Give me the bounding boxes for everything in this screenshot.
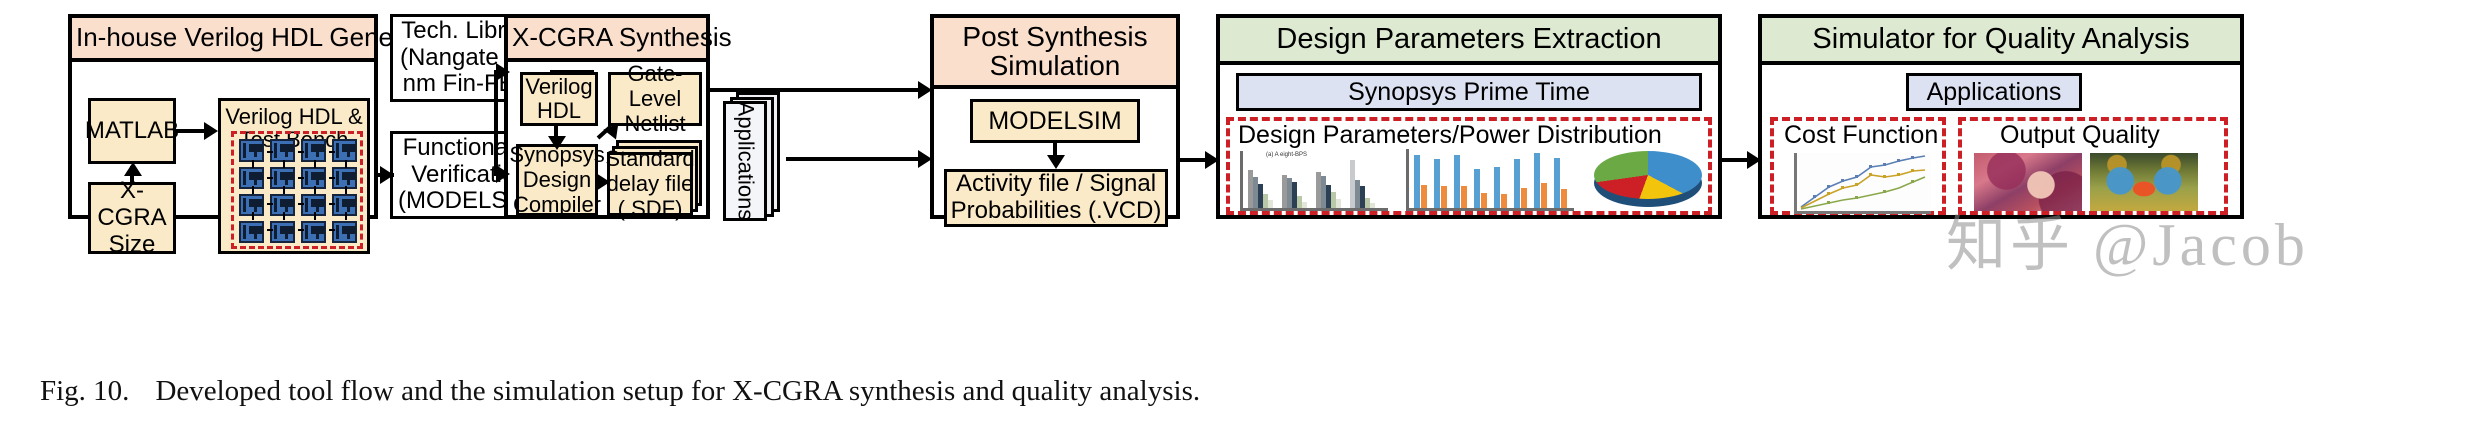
cgra-pe-tile [301, 221, 326, 243]
box-modelsim-label: MODELSIM [988, 107, 1121, 135]
arrow-verilog-to-compiler-head [548, 136, 566, 150]
arrow-matlab-to-testbench-line [176, 129, 206, 133]
connector-synthesis-left-rail [494, 70, 498, 174]
chart-bar [1414, 155, 1420, 208]
cgra-interconnect-h [267, 177, 273, 179]
chart-two-series-bar [1406, 149, 1574, 211]
cgra-interconnect-v [252, 186, 254, 194]
panel-title-hdl-generator: In-house Verilog HDL Generator [72, 18, 374, 62]
cgra-pe-tile [332, 139, 357, 161]
chart-bar [1474, 169, 1480, 208]
cgra-interconnect-v [283, 160, 285, 168]
chart-bar [1336, 199, 1341, 208]
panel-simulator-quality-analysis: Simulator for Quality Analysis Applicati… [1758, 14, 2244, 219]
cgra-interconnect-h [298, 229, 304, 231]
panel-design-parameters-extraction: Design Parameters Extraction Synopsys Pr… [1216, 14, 1722, 219]
cgra-interconnect-h [329, 229, 335, 231]
panel-hdl-generator: In-house Verilog HDL Generator MATLAB X-… [68, 14, 378, 219]
cgra-interconnect-h [267, 229, 273, 231]
chart-bar [1441, 186, 1447, 208]
cgra-interconnect-v [314, 186, 316, 194]
chart-grouped-bar-xaxis [1240, 208, 1388, 211]
arrow-matlab-to-testbench-head [204, 122, 218, 140]
dashed-design-parameters-power-label: Design Parameters/Power Distribution [1238, 121, 1662, 150]
box-matlab[interactable]: MATLAB [88, 98, 176, 164]
panel-xcgra-synthesis: X-CGRA Synthesis Verilog HDL Gate-Level … [504, 14, 710, 219]
box-verilog-hdl[interactable]: Verilog HDL [520, 72, 598, 126]
connector-techlib-to-synthesis-line [550, 70, 594, 74]
cgra-tile-array [239, 139, 357, 243]
panel-title-xcgra-synthesis: X-CGRA Synthesis [508, 18, 706, 62]
box-gate-level-netlist[interactable]: Gate-Level Netlist [608, 72, 702, 126]
chart-cost-function-line [1794, 153, 1931, 214]
box-activity-file-label: Activity file / Signal Probabilities (.V… [951, 171, 1162, 225]
arrow-size-to-matlab-head [124, 162, 142, 176]
chart-bar [1534, 153, 1540, 208]
box-applications-label: Applications [1927, 78, 2062, 106]
chart-bar [1541, 183, 1547, 208]
chart-bar [1268, 200, 1273, 208]
box-verilog-testbench[interactable]: Verilog HDL & Test Bench [218, 98, 370, 254]
chart-bar [1370, 203, 1375, 208]
connector-applications-to-postsynth-line [786, 157, 926, 161]
chart-bar [1554, 158, 1560, 208]
cgra-interconnect-v [252, 212, 254, 220]
chart-grouped-bar-title: (a) A eight-BPS [1266, 152, 1307, 158]
cgra-interconnect-h [329, 151, 335, 153]
cgra-interconnect-v [314, 160, 316, 168]
cgra-pe-tile [239, 139, 264, 161]
box-modelsim[interactable]: MODELSIM [970, 99, 1140, 143]
chart-bar [1454, 155, 1460, 208]
cgra-interconnect-v [283, 186, 285, 194]
cgra-pe-tile [270, 221, 295, 243]
cgra-interconnect-h [329, 203, 335, 205]
dashed-output-quality-label: Output Quality [2000, 121, 2160, 150]
box-standard-delay-file[interactable]: Standard delay file (.SDF) [607, 152, 693, 216]
panel-body-design-parameters-extraction: Synopsys Prime Time Design Parameters/Po… [1220, 65, 1718, 222]
cgra-interconnect-v [314, 212, 316, 220]
chart-grouped-bar-yaxis [1240, 151, 1243, 211]
output-quality-image-lena [1974, 153, 2082, 211]
cgra-interconnect-h [298, 177, 304, 179]
figure-canvas: In-house Verilog HDL Generator MATLAB X-… [0, 0, 2477, 430]
box-gate-level-netlist-label: Gate-Level Netlist [613, 62, 697, 136]
cgra-pe-tile [301, 139, 326, 161]
panel-body-hdl-generator: MATLAB X-CGRA Size Verilog HDL & Test Be… [72, 62, 374, 219]
cgra-interconnect-h [298, 203, 304, 205]
box-xcgra-size-label: X-CGRA Size [93, 178, 171, 259]
cgra-interconnect-h [267, 203, 273, 205]
chart-bar [1461, 186, 1467, 208]
chart-bar [1561, 189, 1567, 208]
chart-two-series-yaxis [1406, 149, 1409, 211]
box-verilog-hdl-label: Verilog HDL [525, 75, 592, 124]
connector-rail-to-synthesis-bottom-head [496, 165, 510, 183]
output-quality-image-baboon [2090, 153, 2198, 211]
chart-bar [1501, 194, 1507, 208]
connector-synthesis-to-postsynth-line [710, 88, 926, 92]
panel-title-post-synthesis-simulation: Post Synthesis Simulation [934, 18, 1176, 89]
figure-caption: Fig. 10.Developed tool flow and the simu… [40, 375, 1200, 408]
applications-stack-label: Applications [732, 102, 758, 221]
cgra-interconnect-h [298, 151, 304, 153]
panel-body-simulator-quality-analysis: Applications Cost Function [1762, 65, 2240, 222]
panel-body-post-synthesis-simulation: MODELSIM Activity file / Signal Probabil… [934, 89, 1176, 209]
chart-bar [1494, 167, 1500, 208]
panel-post-synthesis-simulation: Post Synthesis Simulation MODELSIM Activ… [930, 14, 1180, 219]
cgra-interconnect-h [329, 177, 335, 179]
connector-hdlgen-to-verify-head [380, 166, 394, 184]
panel-body-xcgra-synthesis: Verilog HDL Gate-Level Netlist Synopsys … [508, 62, 706, 219]
cgra-interconnect-v [252, 160, 254, 168]
cgra-interconnect-h [267, 151, 273, 153]
box-synopsys-design-compiler[interactable]: Synopsys Design Compiler [516, 144, 598, 216]
box-matlab-label: MATLAB [85, 118, 179, 145]
panel-title-simulator-quality-analysis: Simulator for Quality Analysis [1762, 18, 2240, 65]
arrow-compiler-to-sdf-head [596, 173, 610, 191]
chart-power-distribution-pie [1590, 147, 1706, 211]
box-activity-file[interactable]: Activity file / Signal Probabilities (.V… [944, 169, 1168, 227]
box-synopsys-prime-time-label: Synopsys Prime Time [1348, 78, 1590, 106]
panel-title-design-parameters-extraction: Design Parameters Extraction [1220, 18, 1718, 65]
cgra-pe-tile [332, 221, 357, 243]
box-xcgra-size[interactable]: X-CGRA Size [88, 182, 176, 254]
cgra-interconnect-v [283, 212, 285, 220]
chart-bar [1521, 188, 1527, 208]
cgra-pe-tile [270, 139, 295, 161]
box-synopsys-prime-time[interactable]: Synopsys Prime Time [1236, 73, 1702, 111]
chart-cost-function-svg [1797, 153, 1931, 211]
connector-rail-to-synthesis-top-head [496, 63, 510, 81]
chart-bar [1481, 193, 1487, 208]
arrow-modelsim-to-activity-head [1047, 155, 1065, 169]
applications-stack[interactable]: Applications [722, 92, 786, 220]
chart-bar [1421, 185, 1427, 208]
chart-bar [1514, 159, 1520, 208]
chart-two-series-xaxis [1406, 208, 1574, 211]
cgra-pe-tile [239, 221, 264, 243]
box-standard-delay-file-label: Standard delay file (.SDF) [605, 147, 694, 221]
chart-bar [1434, 159, 1440, 208]
applications-card-front[interactable]: Applications [723, 101, 767, 221]
figure-caption-text: Developed tool flow and the simulation s… [155, 375, 1200, 407]
chart-grouped-bar: (a) A eight-BPS [1240, 151, 1388, 211]
box-applications[interactable]: Applications [1906, 73, 2082, 111]
box-synopsys-design-compiler-label: Synopsys Design Compiler [509, 143, 604, 217]
chart-bar [1302, 202, 1307, 208]
applications-stack-label-wrap: Applications [726, 104, 764, 218]
cgra-interconnect-v [345, 186, 347, 194]
cgra-interconnect-v [345, 160, 347, 168]
dashed-cost-function-label: Cost Function [1784, 121, 1938, 150]
figure-caption-label: Fig. 10. [40, 375, 129, 407]
cgra-interconnect-v [345, 212, 347, 220]
